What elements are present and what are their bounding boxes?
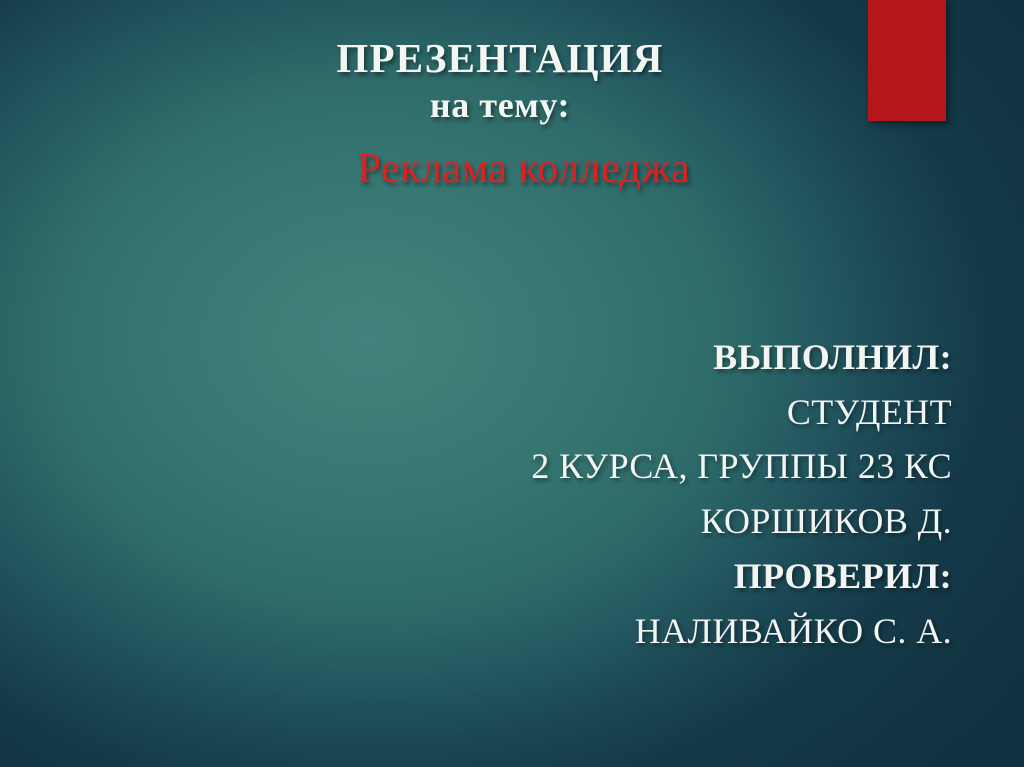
credit-line-student-name: КОРШИКОВ Д. (312, 494, 952, 549)
presentation-heading: ПРЕЗЕНТАЦИЯ (0, 36, 1000, 82)
presentation-subject: Реклама колледжа (0, 145, 1000, 193)
credits-block: ВЫПОЛНИЛ: СТУДЕНТ 2 КУРСА, ГРУППЫ 23 КС … (312, 330, 952, 658)
credit-line-performed-by-label: ВЫПОЛНИЛ: (312, 330, 952, 385)
presentation-title-slide: ПРЕЗЕНТАЦИЯ на тему: Реклама колледжа ВЫ… (0, 0, 1024, 767)
credit-line-teacher-name: НАЛИВАЙКО С. А. (312, 604, 952, 659)
credit-line-role: СТУДЕНТ (312, 385, 952, 440)
credit-line-course-group: 2 КУРСА, ГРУППЫ 23 КС (312, 439, 952, 494)
presentation-subheading: на тему: (0, 82, 1000, 129)
title-block: ПРЕЗЕНТАЦИЯ на тему: Реклама колледжа (0, 36, 1000, 193)
credit-line-checked-by-label: ПРОВЕРИЛ: (312, 549, 952, 604)
